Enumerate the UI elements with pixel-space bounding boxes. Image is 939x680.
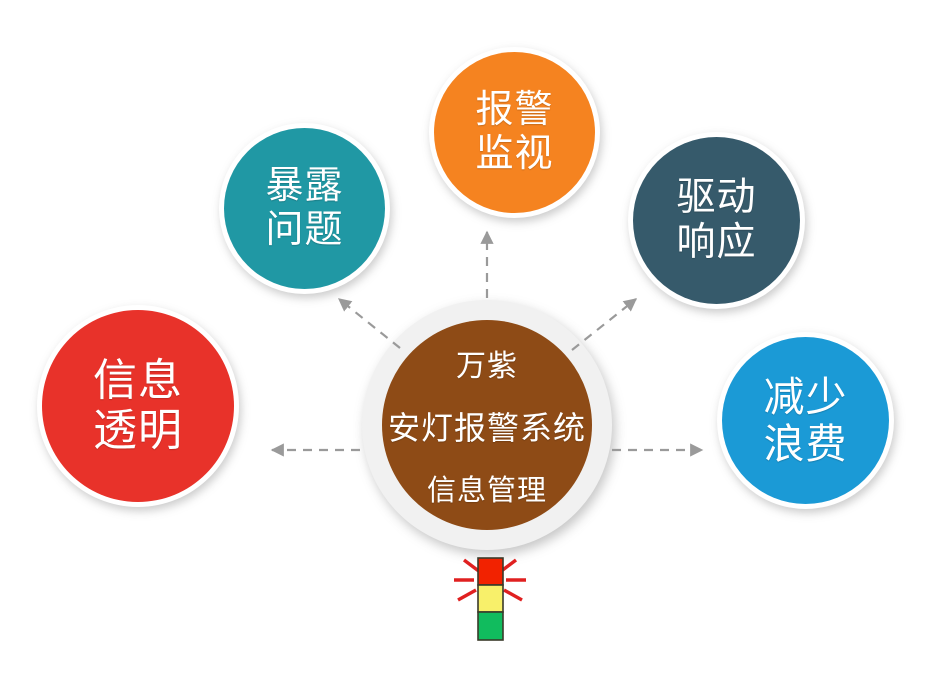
center-hub-line-2: 安灯报警系统 <box>388 403 586 449</box>
node-transparency-disc: 信息 透明 <box>42 310 234 502</box>
node-transparency[interactable]: 信息 透明 <box>37 305 239 507</box>
center-hub-disc: 万紫 安灯报警系统 信息管理 <box>382 320 592 530</box>
diagram-canvas: 信息 透明 暴露 问题 报警 监视 驱动 响应 减少 浪费 万紫 安灯报警系统 … <box>0 0 939 680</box>
node-waste[interactable]: 减少 浪费 <box>717 332 894 509</box>
node-response-disc: 驱动 响应 <box>633 137 800 304</box>
node-monitor-disc: 报警 监视 <box>434 52 595 213</box>
center-hub-text: 万紫 安灯报警系统 信息管理 <box>388 341 586 509</box>
yellow-lamp <box>478 585 503 612</box>
node-waste-disc: 减少 浪费 <box>722 337 889 504</box>
green-lamp <box>478 612 503 640</box>
andon-lamp-stack <box>478 558 503 640</box>
center-hub-line-3: 信息管理 <box>427 467 547 509</box>
node-transparency-label: 信息 透明 <box>93 356 183 456</box>
node-exposure-label: 暴露 问题 <box>265 165 343 252</box>
center-hub-line-1: 万紫 <box>456 341 518 385</box>
node-exposure-disc: 暴露 问题 <box>224 128 385 289</box>
node-response-label: 驱动 响应 <box>676 176 756 265</box>
node-monitor[interactable]: 报警 监视 <box>429 47 600 218</box>
andon-light-tower-icon <box>440 548 540 648</box>
node-response[interactable]: 驱动 响应 <box>628 132 805 309</box>
center-hub[interactable]: 万紫 安灯报警系统 信息管理 <box>362 300 612 550</box>
node-monitor-label: 报警 监视 <box>475 89 553 176</box>
node-waste-label: 减少 浪费 <box>764 374 848 467</box>
node-exposure[interactable]: 暴露 问题 <box>219 123 390 294</box>
red-lamp <box>478 558 503 585</box>
